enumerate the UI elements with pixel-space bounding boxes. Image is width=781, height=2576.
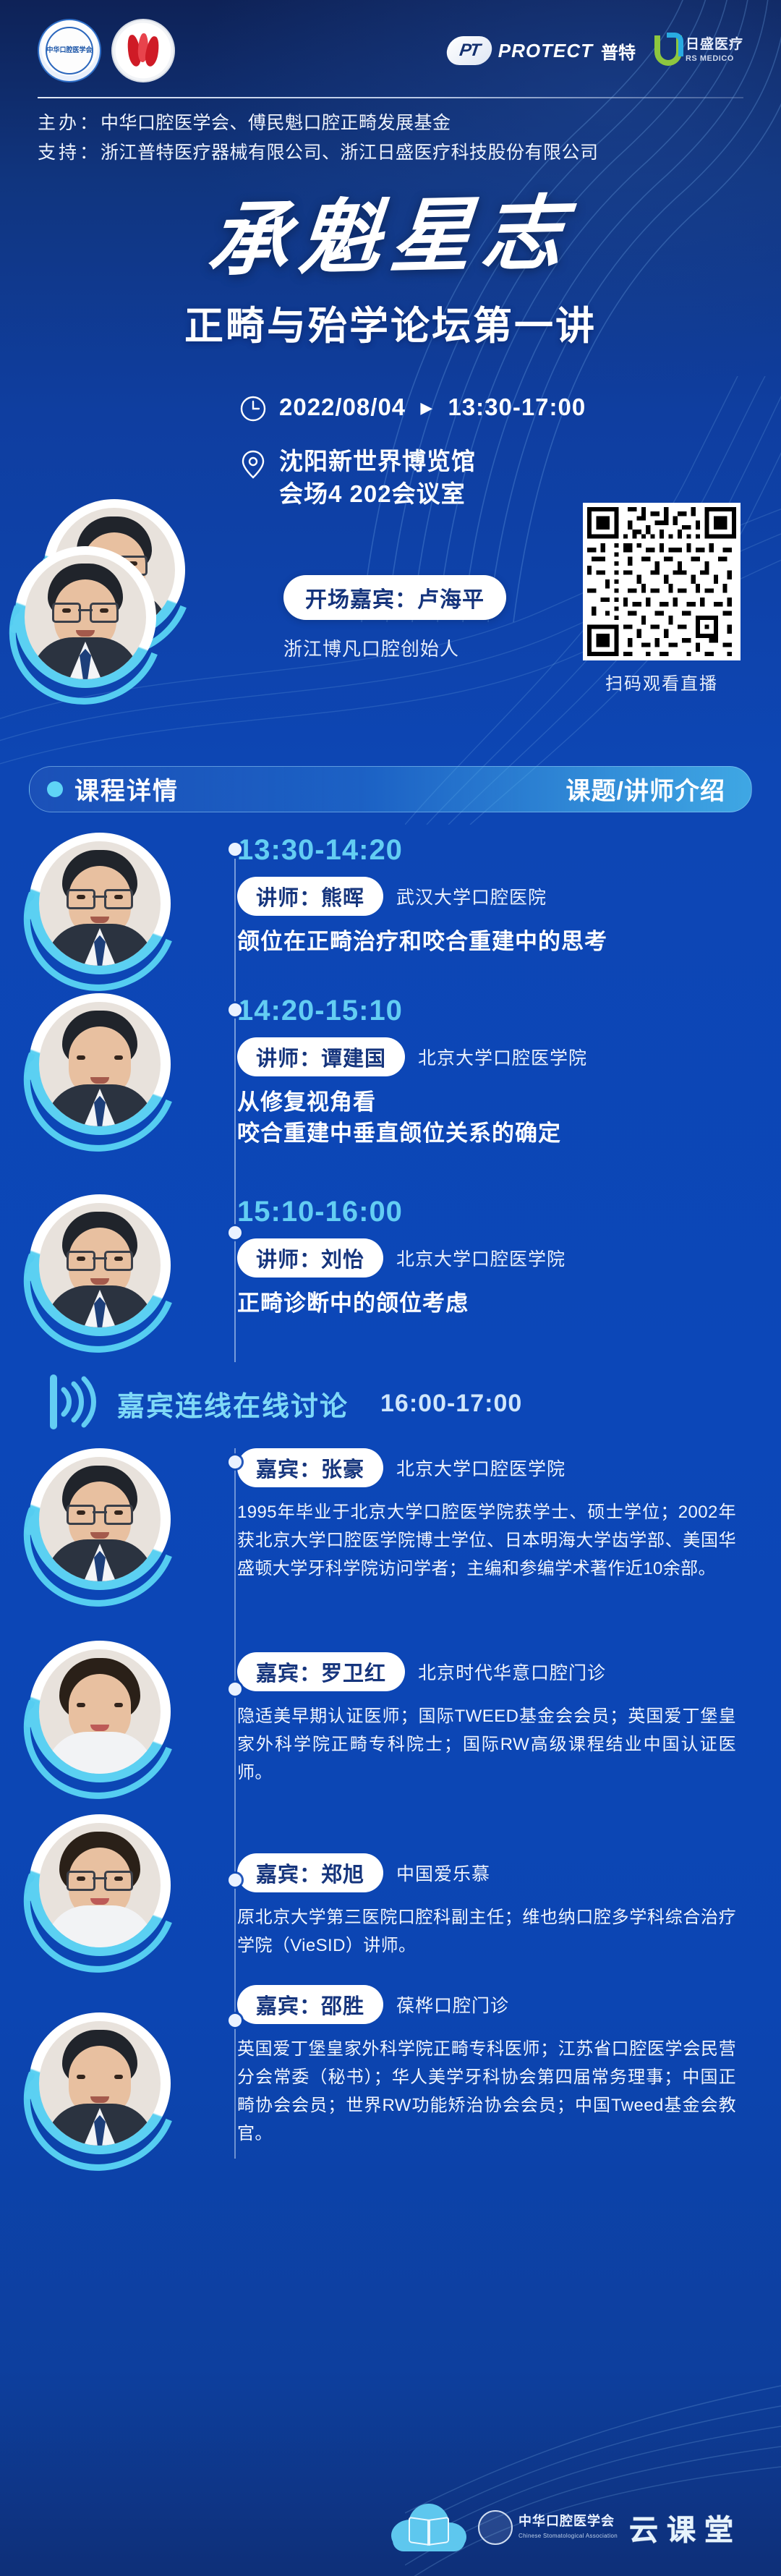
guest-head: 嘉宾：邵胜 葆桦口腔门诊 <box>237 1985 736 2024</box>
schedule-timeline: 13:30-14:20 讲师：熊晖 武汉大学口腔医院 颌位在正畸治疗和咬合重建中… <box>0 833 781 1362</box>
guest-bio: 英国爱丁堡皇家外科学院正畸专科医师；江苏省口腔医学会民营分会常委（秘书）；华人美… <box>237 2036 736 2148</box>
event-date: 2022/08/04 <box>279 394 406 420</box>
guest-bio: 原北京大学第三医院口腔科副主任；维也纳口腔多学科综合治疗学院（VieSID）讲师… <box>237 1904 736 1960</box>
avatar-tail-dot <box>10 624 19 633</box>
speaker-org: 北京大学口腔医学院 <box>418 1044 587 1070</box>
speaker-org: 武汉大学口腔医院 <box>396 883 547 909</box>
poster-root: 中华口腔医学会 PT PROTECT 普特 日盛医疗 RS MEDICO <box>0 0 781 2576</box>
guest-node <box>229 2014 242 2027</box>
guest-org: 北京大学口腔医学院 <box>396 1455 566 1481</box>
cloud-book-icon <box>391 2504 466 2551</box>
guest-org: 北京时代华意口腔门诊 <box>418 1659 606 1685</box>
csa-logo-icon: 中华口腔医学会 <box>38 19 101 82</box>
foundation-mark <box>128 33 158 68</box>
schedule-row: 13:30-14:20 讲师：熊晖 武汉大学口腔医院 颌位在正畸治疗和咬合重建中… <box>0 833 781 974</box>
footer-csa-cn: 中华口腔医学会 <box>518 2514 615 2528</box>
guest-content: 嘉宾：邵胜 葆桦口腔门诊 英国爱丁堡皇家外科学院正畸专科医师；江苏省口腔医学会民… <box>237 1981 736 2176</box>
list-item: 嘉宾：邵胜 葆桦口腔门诊 英国爱丁堡皇家外科学院正畸专科医师；江苏省口腔医学会民… <box>0 1981 781 2176</box>
discussion-header: 嘉宾连线在线讨论 16:00-17:00 <box>0 1366 781 1434</box>
schedule-time: 14:20-15:10 <box>237 995 587 1027</box>
clock-icon <box>239 394 268 427</box>
event-time: 13:30-17:00 <box>448 394 586 420</box>
guest-node <box>229 1874 242 1887</box>
page-title: 承魁星志 <box>0 185 781 292</box>
speaker-org: 北京大学口腔医学院 <box>396 1245 566 1271</box>
schedule-speaker-row: 讲师：熊晖 武汉大学口腔医院 <box>237 877 607 916</box>
timeline-node <box>229 1226 242 1239</box>
protect-name-cn: 普特 <box>601 38 636 64</box>
footer-word: 云课堂 <box>629 2507 742 2549</box>
organizer-block: 主办：中华口腔医学会、傅民魁口腔正畸发展基金 支持：浙江普特医疗器械有限公司、浙… <box>38 109 743 167</box>
title-block: 承魁星志 正畸与殆学论坛第一讲 <box>0 193 781 351</box>
poster-footer: 中华口腔医学会 Chinese Stomatological Associati… <box>0 2467 781 2576</box>
guest-org: 葆桦口腔门诊 <box>396 1991 509 2018</box>
schedule-topic: 正畸诊断中的颌位考虑 <box>237 1288 566 1319</box>
qr-caption: 扫码观看直播 <box>583 669 741 694</box>
timeline-node <box>229 1003 242 1016</box>
schedule-time: 13:30-14:20 <box>237 834 607 867</box>
event-venue-text: 沈阳新世界博览馆 会场4 202会议室 <box>279 446 476 509</box>
fu-minkui-foundation-logo-icon <box>111 19 175 82</box>
timeline-node <box>229 843 242 856</box>
livestream-qr-block[interactable]: 扫码观看直播 <box>583 503 741 694</box>
event-datetime-row: 2022/08/04 ▶ 13:30-17:00 <box>239 391 781 427</box>
broadcast-icon <box>46 1374 98 1434</box>
section-bullet-icon <box>47 781 63 797</box>
schedule-topic: 颌位在正畸治疗和咬合重建中的思考 <box>237 926 607 957</box>
section-title-right: 课题/讲师介绍 <box>566 771 725 807</box>
map-pin-icon <box>239 449 268 484</box>
speaker-pill: 讲师：刘怡 <box>237 1238 383 1278</box>
rsmedico-name-en: RS MEDICO <box>686 54 734 63</box>
organizer-value: 中华口腔医学会、傅民魁口腔正畸发展基金 <box>101 113 451 133</box>
schedule-row: 14:20-15:10 讲师：谭建国 北京大学口腔医学院 从修复视角看 咬合重建… <box>0 993 781 1176</box>
guest-org: 中国爱乐慕 <box>396 1860 490 1886</box>
guest-content: 嘉宾：郑旭 中国爱乐慕 原北京大学第三医院口腔科副主任；维也纳口腔多学科综合治疗… <box>237 1814 736 1969</box>
logo-row: 中华口腔医学会 PT PROTECT 普特 日盛医疗 RS MEDICO <box>38 17 743 84</box>
speaker-avatar-xionghui <box>29 833 171 974</box>
footer-csa-logo: 中华口腔医学会 Chinese Stomatological Associati… <box>478 2510 618 2545</box>
rsmedico-u-icon <box>654 35 682 66</box>
rsmedico-name-cn: 日盛医疗 <box>686 37 743 52</box>
discussion-time: 16:00-17:00 <box>380 1390 522 1418</box>
guest-avatar-zhengxu <box>29 1814 171 1956</box>
guest-content: 嘉宾：罗卫红 北京时代华意口腔门诊 隐适美早期认证医师；国际TWEED基金会会员… <box>237 1641 736 1803</box>
page-subtitle: 正畸与殆学论坛第一讲 <box>0 294 781 351</box>
guest-head: 嘉宾：郑旭 中国爱乐慕 <box>237 1853 736 1892</box>
event-datetime-text: 2022/08/04 ▶ 13:30-17:00 <box>279 391 586 423</box>
section-title-left: 课程详情 <box>74 771 179 807</box>
schedule-speaker-row: 讲师：刘怡 北京大学口腔医学院 <box>237 1238 566 1278</box>
support-label: 支持： <box>38 143 101 163</box>
header-divider <box>38 97 743 98</box>
guest-avatar-shaosheng <box>29 2012 171 2154</box>
support-value: 浙江普特医疗器械有限公司、浙江日盛医疗科技股份有限公司 <box>101 143 599 163</box>
guest-head: 嘉宾：罗卫红 北京时代华意口腔门诊 <box>237 1652 736 1691</box>
speaker-pill: 讲师：谭建国 <box>237 1037 405 1076</box>
guest-node <box>229 1683 242 1696</box>
guest-avatar-luoweihong <box>29 1641 171 1782</box>
list-item: 嘉宾：罗卫红 北京时代华意口腔门诊 隐适美早期认证医师；国际TWEED基金会会员… <box>0 1641 781 1803</box>
organizer-label: 主办： <box>38 113 101 133</box>
speaker-avatar-liuyi <box>29 1194 171 1336</box>
guest-head: 嘉宾：张豪 北京大学口腔医学院 <box>237 1448 736 1487</box>
section-header-bar: 课程详情 课题/讲师介绍 <box>29 766 752 812</box>
guest-node <box>229 1455 242 1468</box>
schedule-content: 15:10-16:00 讲师：刘怡 北京大学口腔医学院 正畸诊断中的颌位考虑 <box>237 1194 566 1336</box>
guest-bio: 隐适美早期认证医师；国际TWEED基金会会员；英国爱丁堡皇家外科学院正畸专科院士… <box>237 1703 736 1788</box>
list-item: 嘉宾：郑旭 中国爱乐慕 原北京大学第三医院口腔科副主任；维也纳口腔多学科综合治疗… <box>0 1814 781 1969</box>
qr-code-matrix <box>587 507 736 656</box>
qr-code[interactable] <box>583 503 741 660</box>
guest-bio: 1995年毕业于北京大学口腔医学院获学士、硕士学位；2002年获北京大学口腔医学… <box>237 1499 736 1584</box>
list-item: 嘉宾：张豪 北京大学口腔医学院 1995年毕业于北京大学口腔医学院获学士、硕士学… <box>0 1448 781 1629</box>
footer-csa-en: Chinese Stomatological Association <box>518 2533 618 2539</box>
rsmedico-text: 日盛医疗 RS MEDICO <box>686 38 743 64</box>
opening-guest-pill: 开场嘉宾：卢海平 <box>283 575 506 620</box>
schedule-content: 14:20-15:10 讲师：谭建国 北京大学口腔医学院 从修复视角看 咬合重建… <box>237 993 587 1176</box>
schedule-speaker-row: 讲师：谭建国 北京大学口腔医学院 <box>237 1037 587 1076</box>
event-separator-icon: ▶ <box>420 397 433 418</box>
guest-list: 嘉宾：张豪 北京大学口腔医学院 1995年毕业于北京大学口腔医学院获学士、硕士学… <box>0 1448 781 2176</box>
event-meta: 2022/08/04 ▶ 13:30-17:00 沈阳新世界博览馆 会场4 20… <box>0 391 781 509</box>
avatar <box>14 546 156 688</box>
rsmedico-logo: 日盛医疗 RS MEDICO <box>654 35 743 66</box>
footer-brand: 中华口腔医学会 Chinese Stomatological Associati… <box>391 2504 742 2551</box>
venue-line-1: 沈阳新世界博览馆 <box>279 448 476 475</box>
support-line: 支持：浙江普特医疗器械有限公司、浙江日盛医疗科技股份有限公司 <box>38 138 743 168</box>
guest-pill: 嘉宾：邵胜 <box>237 1985 383 2024</box>
organizer-line: 主办：中华口腔医学会、傅民魁口腔正畸发展基金 <box>38 109 743 138</box>
schedule-time: 15:10-16:00 <box>237 1196 566 1228</box>
sponsor-logos: PT PROTECT 普特 日盛医疗 RS MEDICO <box>447 35 743 66</box>
schedule-topic: 从修复视角看 咬合重建中垂直颌位关系的确定 <box>237 1087 587 1149</box>
poster-header: 中华口腔医学会 PT PROTECT 普特 日盛医疗 RS MEDICO <box>0 0 781 167</box>
discussion-title: 嘉宾连线在线讨论 <box>117 1384 349 1424</box>
guest-pill: 嘉宾：张豪 <box>237 1448 383 1487</box>
guest-pill: 嘉宾：郑旭 <box>237 1853 383 1892</box>
opening-guest-section: 开场嘉宾：卢海平 浙江博凡口腔创始人 <box>0 529 781 746</box>
schedule-row: 15:10-16:00 讲师：刘怡 北京大学口腔医学院 正畸诊断中的颌位考虑 <box>0 1194 781 1336</box>
protect-name: PROTECT <box>498 40 593 62</box>
venue-line-2: 会场4 202会议室 <box>279 480 466 507</box>
opening-guest-portrait <box>14 546 156 702</box>
event-location-row: 沈阳新世界博览馆 会场4 202会议室 <box>239 446 781 509</box>
footer-csa-text: 中华口腔医学会 Chinese Stomatological Associati… <box>518 2515 618 2541</box>
schedule-content: 13:30-14:20 讲师：熊晖 武汉大学口腔医院 颌位在正畸治疗和咬合重建中… <box>237 833 607 974</box>
csa-badge-icon <box>478 2510 513 2545</box>
guest-content: 嘉宾：张豪 北京大学口腔医学院 1995年毕业于北京大学口腔医学院获学士、硕士学… <box>237 1448 736 1629</box>
speaker-pill: 讲师：熊晖 <box>237 877 383 916</box>
speaker-avatar-tanjianguo <box>29 993 171 1135</box>
csa-logo-text: 中华口腔医学会 <box>46 47 92 54</box>
guest-pill: 嘉宾：罗卫红 <box>237 1652 405 1691</box>
guest-avatar-zhanghao <box>29 1448 171 1590</box>
protect-logo: PT PROTECT 普特 <box>447 36 636 65</box>
protect-mark-icon: PT <box>445 36 494 65</box>
